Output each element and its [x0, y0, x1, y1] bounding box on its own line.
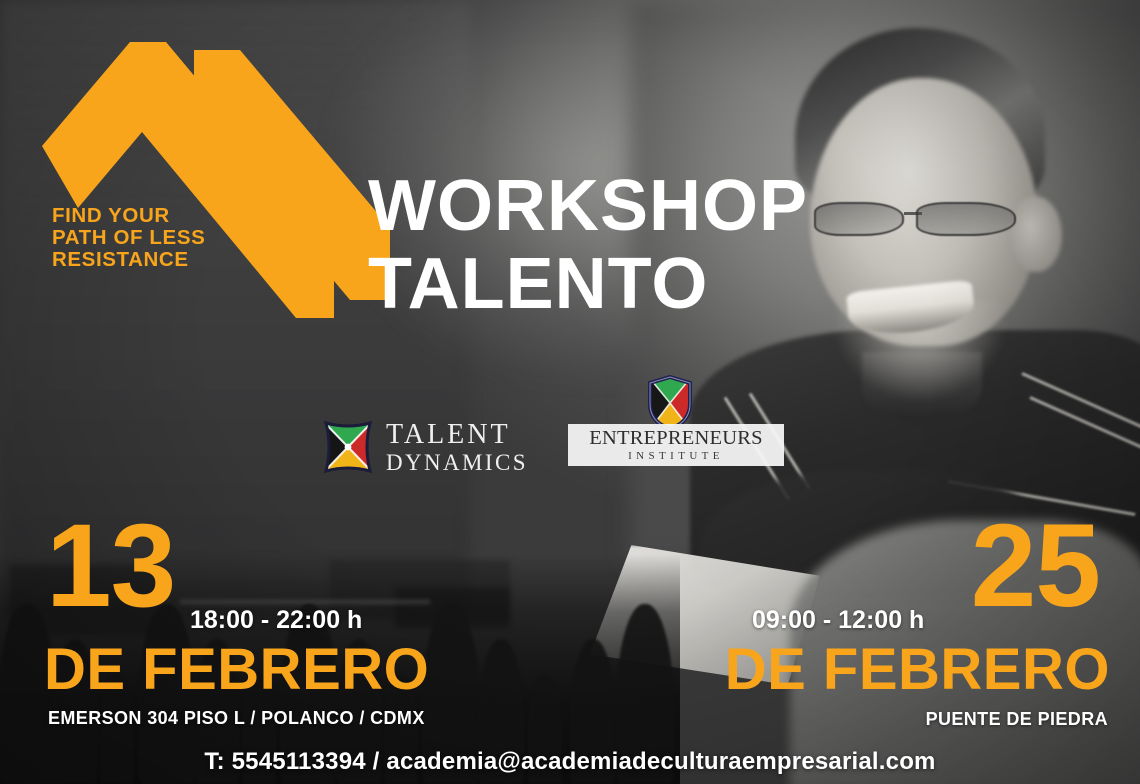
tagline-line-3: RESISTANCE: [52, 249, 205, 271]
title-line-2: TALENTO: [368, 244, 808, 324]
entrepreneurs-institute-wordmark: ENTREPRENEURS INSTITUTE: [568, 424, 784, 466]
session-2-time: 09:00 - 12:00 h: [752, 607, 924, 633]
talent-dynamics-wordmark: TALENT DYNAMICS: [386, 421, 528, 474]
title-line-1: WORKSHOP: [368, 168, 808, 244]
tagline-line-1: FIND YOUR: [52, 205, 205, 227]
entrepreneurs-institute-word-bottom: INSTITUTE: [628, 451, 724, 462]
session-2-venue: PUENTE DE PIEDRA: [926, 709, 1108, 730]
talent-dynamics-logo: TALENT DYNAMICS: [322, 420, 528, 474]
four-color-star-emblem-icon: [322, 420, 374, 474]
session-1-month: DE FEBRERO: [44, 640, 429, 700]
session-2-day: 25: [971, 512, 1100, 620]
chevron-arrow-mark-icon: [34, 28, 394, 338]
session-1-venue: EMERSON 304 PISO L / POLANCO / CDMX: [48, 708, 425, 729]
event-poster: FIND YOUR PATH OF LESS RESISTANCE WORKSH…: [0, 0, 1140, 784]
talent-dynamics-word-top: TALENT: [386, 421, 528, 449]
tagline: FIND YOUR PATH OF LESS RESISTANCE: [52, 205, 205, 271]
tagline-line-2: PATH OF LESS: [52, 227, 205, 249]
session-1-day: 13: [46, 512, 175, 620]
session-2-month: DE FEBRERO: [725, 640, 1110, 700]
entrepreneurs-institute-word-top: ENTREPRENEURS: [589, 428, 762, 449]
talent-dynamics-word-bottom: DYNAMICS: [386, 451, 528, 474]
page-title: WORKSHOP TALENTO: [368, 168, 808, 324]
contact-line: T: 5545113394 / academia@academiadecultu…: [0, 748, 1140, 776]
session-1-time: 18:00 - 22:00 h: [190, 607, 362, 633]
